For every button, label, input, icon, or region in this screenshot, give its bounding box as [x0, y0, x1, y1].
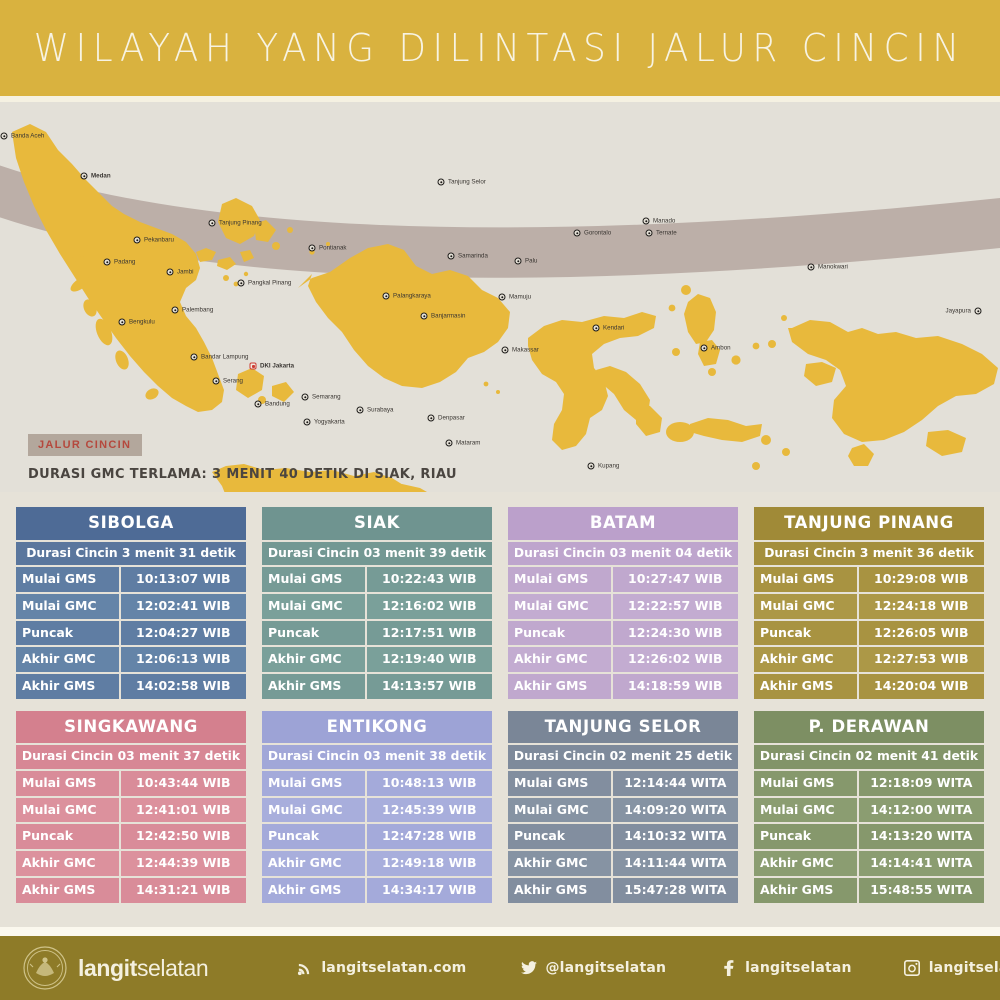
card-row: Akhir GMC12:26:02 WIB	[508, 647, 738, 672]
city-label: Bengkulu	[129, 319, 155, 326]
footer-divider	[0, 927, 1000, 936]
card-row: Mulai GMS10:13:07 WIB	[16, 567, 246, 592]
city-marker-dot	[574, 230, 581, 237]
card-row-value: 14:18:59 WIB	[613, 674, 738, 699]
city-marker-dot	[383, 293, 390, 300]
city-marker-dot	[357, 407, 364, 414]
city-marker-dot	[646, 230, 653, 237]
card-row-label: Mulai GMC	[754, 594, 857, 619]
city-marker-dot	[808, 264, 815, 271]
card-row-label: Akhir GMC	[508, 851, 611, 876]
city-label: Medan	[91, 173, 111, 180]
card-row: Akhir GMS15:47:28 WITA	[508, 878, 738, 903]
city-marker-dot	[134, 237, 141, 244]
city-marker-dot	[209, 220, 216, 227]
city-label: Ambon	[711, 345, 731, 352]
timing-card: P. DERAWANDurasi Cincin 02 menit 41 deti…	[754, 711, 984, 903]
footer-bar: langitselatan langitselatan.com @langits…	[0, 936, 1000, 1000]
card-row-label: Puncak	[16, 621, 119, 646]
card-row: Mulai GMS10:48:13 WIB	[262, 771, 492, 796]
city-label: Samarinda	[458, 253, 488, 260]
card-duration: Durasi Cincin 03 menit 38 detik	[262, 745, 492, 769]
card-row-label: Puncak	[754, 621, 857, 646]
card-row-value: 12:18:09 WITA	[859, 771, 984, 796]
card-duration: Durasi Cincin 02 menit 25 detik	[508, 745, 738, 769]
card-row-value: 12:44:39 WIB	[121, 851, 246, 876]
brand-block: langitselatan	[22, 945, 208, 991]
card-row-value: 12:24:30 WIB	[613, 621, 738, 646]
card-row-value: 14:20:04 WIB	[859, 674, 984, 699]
facebook-label: langitselatan	[745, 960, 852, 976]
card-row: Akhir GMC12:49:18 WIB	[262, 851, 492, 876]
timing-card: SINGKAWANGDurasi Cincin 03 menit 37 deti…	[16, 711, 246, 903]
city-label: Pangkal Pinang	[248, 280, 291, 287]
card-row-value: 12:41:01 WIB	[121, 798, 246, 823]
city-label: Banda Aceh	[11, 133, 44, 140]
city-marker-dot	[499, 294, 506, 301]
city-marker-dot	[1, 133, 8, 140]
city-marker-dot	[250, 363, 257, 370]
card-row: Puncak14:13:20 WITA	[754, 824, 984, 849]
card-row: Mulai GMC14:09:20 WITA	[508, 798, 738, 823]
card-title: SIAK	[262, 507, 492, 540]
city-marker-dot	[515, 258, 522, 265]
timing-card: TANJUNG PINANGDurasi Cincin 3 menit 36 d…	[754, 507, 984, 699]
card-row-value: 10:29:08 WIB	[859, 567, 984, 592]
card-row: Akhir GMC12:27:53 WIB	[754, 647, 984, 672]
timing-card: ENTIKONGDurasi Cincin 03 menit 38 detikM…	[262, 711, 492, 903]
card-row-label: Mulai GMC	[262, 798, 365, 823]
city-marker-dot	[167, 269, 174, 276]
langitselatan-logo-icon	[22, 945, 68, 991]
city-label: Ternate	[656, 230, 677, 237]
card-row-label: Mulai GMS	[508, 771, 611, 796]
twitter-icon	[520, 960, 537, 977]
city-label: Palangkaraya	[393, 293, 431, 300]
card-row-value: 14:11:44 WITA	[613, 851, 738, 876]
legend-jalur-cincin: JALUR CINCIN	[28, 434, 142, 456]
city-marker-dot	[438, 179, 445, 186]
card-row: Puncak14:10:32 WITA	[508, 824, 738, 849]
timing-card: SIBOLGADurasi Cincin 3 menit 31 detikMul…	[16, 507, 246, 699]
city-label: Kendari	[603, 325, 624, 332]
city-label: DKI Jakarta	[260, 363, 294, 370]
card-row-value: 14:12:00 WITA	[859, 798, 984, 823]
card-row-value: 12:24:18 WIB	[859, 594, 984, 619]
card-row-label: Mulai GMC	[508, 798, 611, 823]
instagram-icon	[904, 960, 921, 977]
card-row-value: 12:22:57 WIB	[613, 594, 738, 619]
card-row: Mulai GMC12:24:18 WIB	[754, 594, 984, 619]
card-row: Mulai GMS10:43:44 WIB	[16, 771, 246, 796]
card-row: Mulai GMS10:29:08 WIB	[754, 567, 984, 592]
card-row-label: Akhir GMC	[754, 647, 857, 672]
card-duration: Durasi Cincin 3 menit 31 detik	[16, 542, 246, 566]
card-row: Puncak12:26:05 WIB	[754, 621, 984, 646]
card-row-value: 12:04:27 WIB	[121, 621, 246, 646]
card-row-value: 15:48:55 WITA	[859, 878, 984, 903]
city-marker-dot	[309, 245, 316, 252]
city-label: Palembang	[182, 307, 213, 314]
header-banner: WILAYAH YANG DILINTASI JALUR CINCIN	[0, 0, 1000, 96]
timing-card: SIAKDurasi Cincin 03 menit 39 detikMulai…	[262, 507, 492, 699]
card-row: Akhir GMS14:18:59 WIB	[508, 674, 738, 699]
city-label: Denpasar	[438, 415, 465, 422]
city-label: Semarang	[312, 394, 341, 401]
card-row-label: Puncak	[262, 621, 365, 646]
card-row-label: Mulai GMS	[262, 567, 365, 592]
card-duration: Durasi Cincin 3 menit 36 detik	[754, 542, 984, 566]
rss-icon	[296, 960, 313, 977]
card-row-value: 12:47:28 WIB	[367, 824, 492, 849]
instagram-label: langitselatanmedia	[929, 960, 1000, 976]
city-label: Manado	[653, 218, 675, 225]
card-row-value: 14:31:21 WIB	[121, 878, 246, 903]
city-label: Pontianak	[319, 245, 347, 252]
city-timing-cards: SIBOLGADurasi Cincin 3 menit 31 detikMul…	[16, 507, 984, 903]
city-label: Banjarmasin	[431, 313, 465, 320]
card-title: BATAM	[508, 507, 738, 540]
card-row-value: 12:14:44 WITA	[613, 771, 738, 796]
city-label: Gorontalo	[584, 230, 611, 237]
card-row: Mulai GMS10:27:47 WIB	[508, 567, 738, 592]
card-title: TANJUNG SELOR	[508, 711, 738, 744]
card-row-label: Puncak	[16, 824, 119, 849]
city-marker-dot	[421, 313, 428, 320]
city-marker-dot	[701, 345, 708, 352]
card-row-label: Mulai GMS	[508, 567, 611, 592]
card-duration: Durasi Cincin 02 menit 41 detik	[754, 745, 984, 769]
city-marker-dot	[446, 440, 453, 447]
card-row-value: 10:22:43 WIB	[367, 567, 492, 592]
card-row-label: Akhir GMC	[262, 851, 365, 876]
card-row-value: 14:10:32 WITA	[613, 824, 738, 849]
indonesia-map: Banda AcehMedanPekanbaruPadangJambiTanju…	[0, 102, 1000, 492]
card-row-value: 12:19:40 WIB	[367, 647, 492, 672]
card-row-label: Puncak	[262, 824, 365, 849]
card-row-value: 10:48:13 WIB	[367, 771, 492, 796]
card-row-label: Akhir GMS	[754, 674, 857, 699]
card-row: Puncak12:47:28 WIB	[262, 824, 492, 849]
card-row-value: 14:14:41 WITA	[859, 851, 984, 876]
city-marker-dot	[104, 259, 111, 266]
card-row: Puncak12:17:51 WIB	[262, 621, 492, 646]
card-row: Puncak12:24:30 WIB	[508, 621, 738, 646]
city-marker-dot	[238, 280, 245, 287]
card-row-label: Mulai GMS	[262, 771, 365, 796]
card-row-label: Mulai GMC	[16, 594, 119, 619]
city-label: Kupang	[598, 463, 619, 470]
card-row: Puncak12:04:27 WIB	[16, 621, 246, 646]
city-marker-dot	[593, 325, 600, 332]
infographic-page: WILAYAH YANG DILINTASI JALUR CINCIN	[0, 0, 1000, 1000]
card-row: Mulai GMC14:12:00 WITA	[754, 798, 984, 823]
card-row-value: 12:42:50 WIB	[121, 824, 246, 849]
city-marker-dot	[502, 347, 509, 354]
city-marker-dot	[304, 419, 311, 426]
city-marker-dot	[81, 173, 88, 180]
page-title: WILAYAH YANG DILINTASI JALUR CINCIN	[34, 26, 966, 70]
card-row-label: Mulai GMC	[754, 798, 857, 823]
city-label: Mamuju	[509, 294, 531, 301]
city-marker-dot	[302, 394, 309, 401]
card-title: P. DERAWAN	[754, 711, 984, 744]
city-label: Makassar	[512, 347, 539, 354]
card-duration: Durasi Cincin 03 menit 39 detik	[262, 542, 492, 566]
city-marker-dot	[172, 307, 179, 314]
card-row-value: 12:06:13 WIB	[121, 647, 246, 672]
card-duration: Durasi Cincin 03 menit 37 detik	[16, 745, 246, 769]
card-row-value: 12:17:51 WIB	[367, 621, 492, 646]
card-row: Mulai GMC12:02:41 WIB	[16, 594, 246, 619]
card-row-value: 14:34:17 WIB	[367, 878, 492, 903]
card-row: Akhir GMC12:06:13 WIB	[16, 647, 246, 672]
card-row-label: Mulai GMS	[16, 567, 119, 592]
city-label: Padang	[114, 259, 135, 266]
city-marker-dot	[213, 378, 220, 385]
card-row: Mulai GMS10:22:43 WIB	[262, 567, 492, 592]
card-row: Mulai GMS12:14:44 WITA	[508, 771, 738, 796]
card-row-label: Akhir GMC	[16, 647, 119, 672]
card-row-label: Puncak	[508, 824, 611, 849]
card-row-label: Puncak	[508, 621, 611, 646]
card-row: Akhir GMS14:13:57 WIB	[262, 674, 492, 699]
city-label: Serang	[223, 378, 243, 385]
card-row-label: Puncak	[754, 824, 857, 849]
card-row-label: Akhir GMS	[754, 878, 857, 903]
facebook-icon	[720, 960, 737, 977]
card-row: Akhir GMS14:02:58 WIB	[16, 674, 246, 699]
card-row-value: 12:02:41 WIB	[121, 594, 246, 619]
city-marker-dot	[255, 401, 262, 408]
card-row-value: 10:43:44 WIB	[121, 771, 246, 796]
city-marker-dot	[975, 308, 982, 315]
card-row-label: Akhir GMC	[754, 851, 857, 876]
card-row: Mulai GMC12:41:01 WIB	[16, 798, 246, 823]
social-link-website[interactable]: langitselatan.com	[296, 960, 466, 977]
card-row-label: Mulai GMS	[16, 771, 119, 796]
brand-light: selatan	[137, 955, 208, 981]
city-marker-dot	[191, 354, 198, 361]
card-row-value: 14:02:58 WIB	[121, 674, 246, 699]
card-row-label: Akhir GMS	[16, 878, 119, 903]
city-label: Bandung	[265, 401, 290, 408]
card-title: ENTIKONG	[262, 711, 492, 744]
card-row: Akhir GMS14:34:17 WIB	[262, 878, 492, 903]
card-row: Akhir GMC14:11:44 WITA	[508, 851, 738, 876]
card-row-value: 12:26:05 WIB	[859, 621, 984, 646]
website-label: langitselatan.com	[321, 960, 466, 976]
timing-card: BATAMDurasi Cincin 03 menit 04 detikMula…	[508, 507, 738, 699]
card-row-value: 12:16:02 WIB	[367, 594, 492, 619]
card-row-label: Akhir GMC	[508, 647, 611, 672]
social-link-facebook[interactable]: langitselatan	[720, 960, 852, 977]
card-row-value: 12:26:02 WIB	[613, 647, 738, 672]
card-row-value: 15:47:28 WITA	[613, 878, 738, 903]
card-title: SIBOLGA	[16, 507, 246, 540]
card-row: Mulai GMC12:16:02 WIB	[262, 594, 492, 619]
city-label: Jayapura	[946, 308, 971, 315]
card-row-label: Akhir GMS	[16, 674, 119, 699]
city-marker-dot	[428, 415, 435, 422]
card-row-value: 10:27:47 WIB	[613, 567, 738, 592]
social-link-instagram[interactable]: langitselatanmedia	[904, 960, 1000, 977]
card-row: Mulai GMC12:45:39 WIB	[262, 798, 492, 823]
city-label: Yogyakarta	[314, 419, 345, 426]
city-label: Tanjung Selor	[448, 179, 486, 186]
card-row-value: 14:09:20 WITA	[613, 798, 738, 823]
card-row-label: Mulai GMC	[262, 594, 365, 619]
city-marker-dot	[588, 463, 595, 470]
card-row-label: Akhir GMS	[508, 674, 611, 699]
card-row-label: Akhir GMC	[16, 851, 119, 876]
city-label: Manokwari	[818, 264, 848, 271]
card-row-value: 12:27:53 WIB	[859, 647, 984, 672]
card-row: Akhir GMC12:19:40 WIB	[262, 647, 492, 672]
card-duration: Durasi Cincin 03 menit 04 detik	[508, 542, 738, 566]
card-row-value: 14:13:20 WITA	[859, 824, 984, 849]
card-row: Akhir GMC14:14:41 WITA	[754, 851, 984, 876]
card-row: Puncak12:42:50 WIB	[16, 824, 246, 849]
card-row: Akhir GMS14:31:21 WIB	[16, 878, 246, 903]
card-row: Mulai GMC12:22:57 WIB	[508, 594, 738, 619]
city-label: Pekanbaru	[144, 237, 174, 244]
card-row: Akhir GMS15:48:55 WITA	[754, 878, 984, 903]
card-row-value: 10:13:07 WIB	[121, 567, 246, 592]
card-row-value: 14:13:57 WIB	[367, 674, 492, 699]
card-row-label: Akhir GMS	[262, 674, 365, 699]
card-title: TANJUNG PINANG	[754, 507, 984, 540]
card-row-value: 12:45:39 WIB	[367, 798, 492, 823]
city-label: Tanjung Pinang	[219, 220, 262, 227]
card-row: Akhir GMC12:44:39 WIB	[16, 851, 246, 876]
map-caption: DURASI GMC TERLAMA: 3 MENIT 40 DETIK DI …	[28, 466, 457, 482]
card-row: Akhir GMS14:20:04 WIB	[754, 674, 984, 699]
card-row-label: Akhir GMS	[262, 878, 365, 903]
city-label: Palu	[525, 258, 537, 265]
social-link-twitter[interactable]: @langitselatan	[520, 960, 666, 977]
timing-card: TANJUNG SELORDurasi Cincin 02 menit 25 d…	[508, 711, 738, 903]
card-row-label: Mulai GMC	[16, 798, 119, 823]
city-marker-dot	[119, 319, 126, 326]
card-row-label: Mulai GMS	[754, 771, 857, 796]
card-row-label: Mulai GMS	[754, 567, 857, 592]
twitter-label: @langitselatan	[545, 960, 666, 976]
city-marker-dot	[643, 218, 650, 225]
city-label: Bandar Lampung	[201, 354, 248, 361]
card-row: Mulai GMS12:18:09 WITA	[754, 771, 984, 796]
card-row-label: Akhir GMC	[262, 647, 365, 672]
card-title: SINGKAWANG	[16, 711, 246, 744]
card-row-value: 12:49:18 WIB	[367, 851, 492, 876]
city-marker-dot	[448, 253, 455, 260]
card-row-label: Mulai GMC	[508, 594, 611, 619]
city-label: Mataram	[456, 440, 480, 447]
card-row-label: Akhir GMS	[508, 878, 611, 903]
brand-wordmark: langitselatan	[78, 955, 208, 982]
brand-bold: langit	[78, 955, 137, 981]
city-label: Jambi	[177, 269, 194, 276]
city-label: Surabaya	[367, 407, 394, 414]
